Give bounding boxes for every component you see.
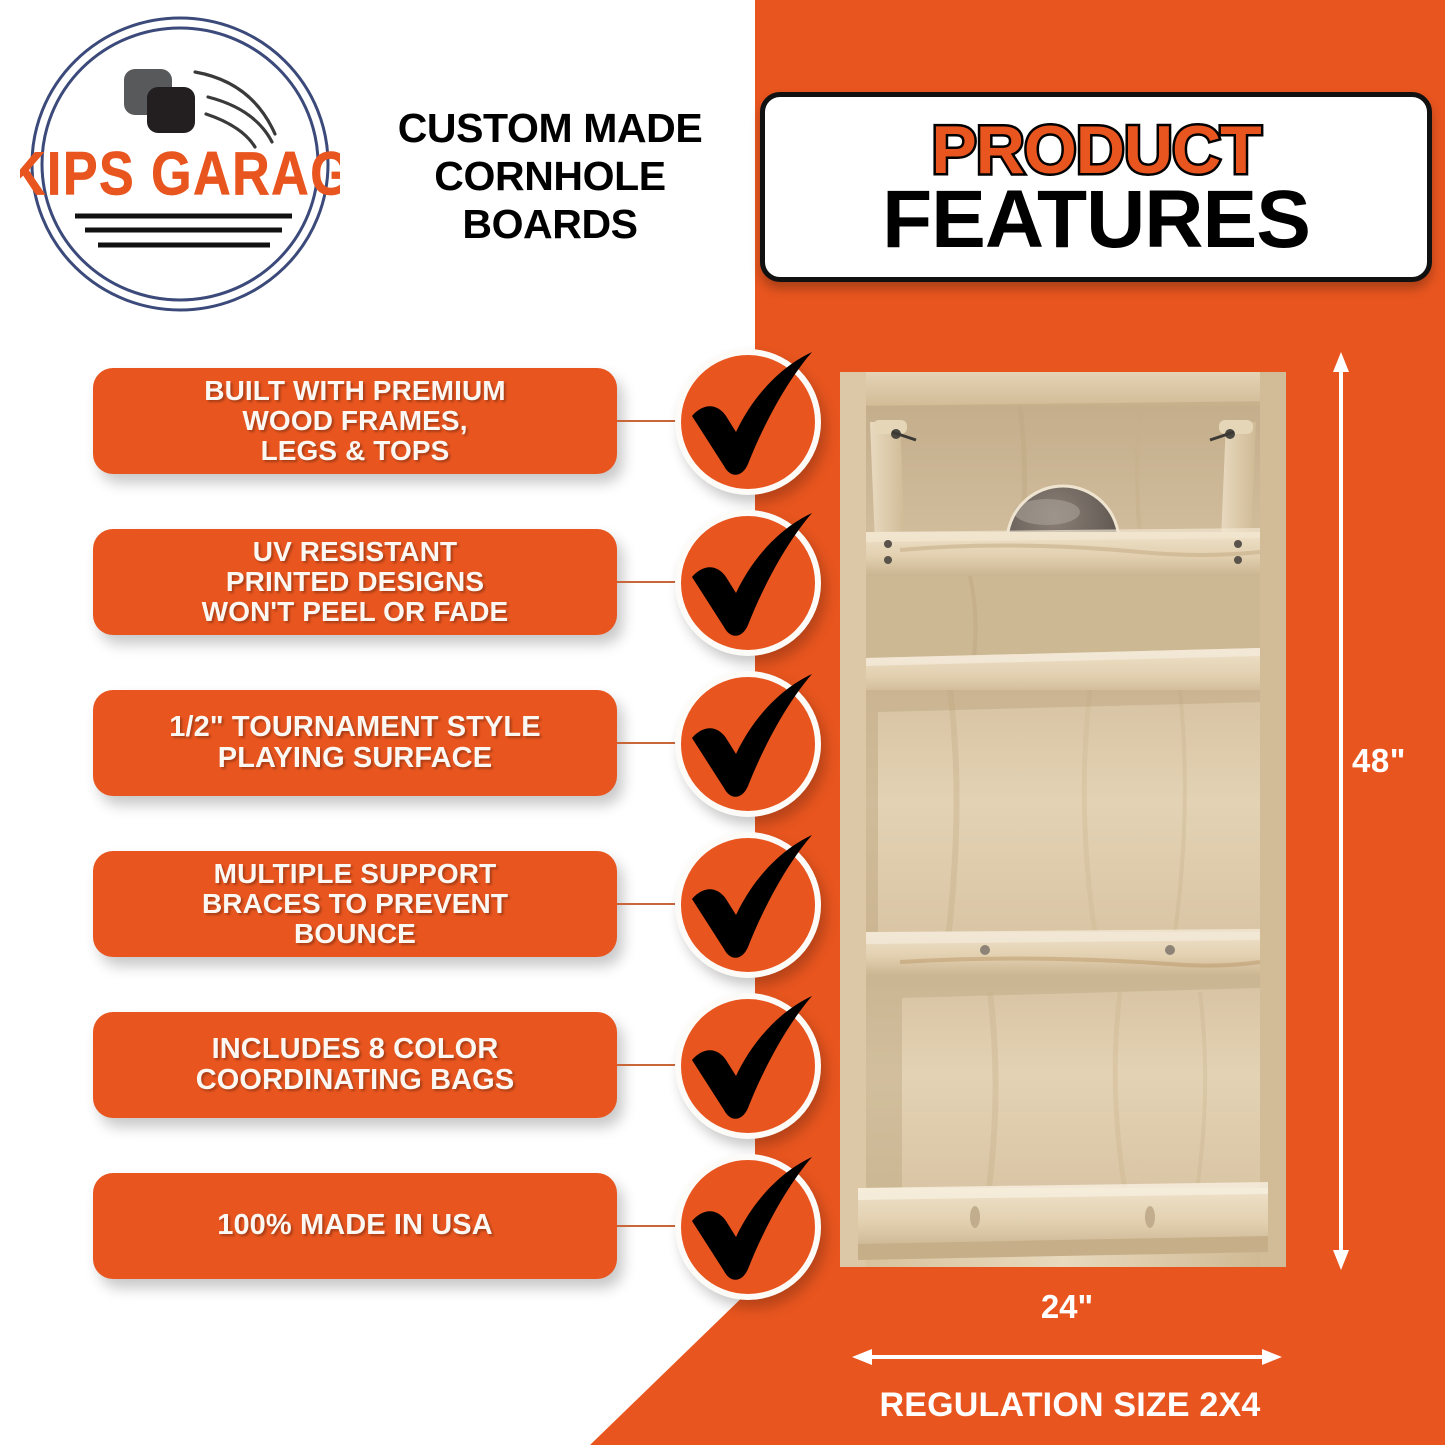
- brace-screw-tr: [1234, 540, 1242, 548]
- feature-row: 1/2" TOURNAMENT STYLE PLAYING SURFACE: [0, 690, 830, 840]
- feature-connector-line: [617, 903, 683, 905]
- board-right-rail: [1260, 372, 1286, 1267]
- feature-check-circle: [675, 510, 821, 656]
- feature-label: 1/2" TOURNAMENT STYLE PLAYING SURFACE: [169, 712, 540, 775]
- infographic-canvas: SKIPS GARAGE CUSTOM MADE CORNHOLE BOARDS…: [0, 0, 1445, 1445]
- product-features-banner: PRODUCT FEATURES: [760, 92, 1432, 282]
- feature-connector-line: [617, 581, 683, 583]
- logo-motion-arc-1: [195, 72, 275, 134]
- feature-label: INCLUDES 8 COLOR COORDINATING BAGS: [196, 1034, 515, 1097]
- feature-label: BUILT WITH PREMIUM WOOD FRAMES, LEGS & T…: [204, 376, 505, 467]
- brace-screw-bl: [884, 556, 892, 564]
- board-left-rail: [840, 372, 866, 1267]
- brace-screw-br: [1234, 556, 1242, 564]
- feature-check-circle: [675, 1154, 821, 1300]
- feature-connector-line: [617, 1064, 683, 1066]
- feature-check-circle: [675, 832, 821, 978]
- feature-row: INCLUDES 8 COLOR COORDINATING BAGS: [0, 1012, 830, 1162]
- feature-connector-line: [617, 742, 683, 744]
- board-top-rail: [840, 372, 1286, 406]
- headline-line-2: CORNHOLE: [350, 153, 750, 201]
- feature-connector-line: [617, 1225, 683, 1227]
- width-dimension-label: 24": [852, 1288, 1282, 1326]
- feature-pill[interactable]: 100% MADE IN USA: [93, 1173, 617, 1279]
- feature-pill[interactable]: BUILT WITH PREMIUM WOOD FRAMES, LEGS & T…: [93, 368, 617, 474]
- feature-pill[interactable]: INCLUDES 8 COLOR COORDINATING BAGS: [93, 1012, 617, 1118]
- feature-check-circle: [675, 349, 821, 495]
- feature-row: MULTIPLE SUPPORT BRACES TO PREVENT BOUNC…: [0, 851, 830, 1001]
- width-dimension-arrow: [852, 1348, 1282, 1366]
- headline-line-1: CUSTOM MADE: [350, 105, 750, 153]
- brace-screw-m2: [1165, 945, 1175, 955]
- feature-row: UV RESISTANT PRINTED DESIGNS WON'T PEEL …: [0, 529, 830, 679]
- height-dimension-arrow: [1331, 352, 1351, 1270]
- logo-wordmark: SKIPS GARAGE: [20, 141, 340, 209]
- skips-garage-logo: SKIPS GARAGE: [20, 14, 340, 314]
- feature-label: MULTIPLE SUPPORT BRACES TO PREVENT BOUNC…: [202, 859, 508, 950]
- height-dimension-label: 48": [1352, 742, 1406, 780]
- bottom-screw-2: [1145, 1206, 1155, 1228]
- logo-square-dark: [147, 87, 195, 133]
- feature-pill[interactable]: 1/2" TOURNAMENT STYLE PLAYING SURFACE: [93, 690, 617, 796]
- brace-screw-m1: [980, 945, 990, 955]
- feature-label: 100% MADE IN USA: [217, 1210, 493, 1241]
- banner-word-features: FEATURES: [882, 181, 1310, 260]
- feature-pill[interactable]: UV RESISTANT PRINTED DESIGNS WON'T PEEL …: [93, 529, 617, 635]
- feature-label: UV RESISTANT PRINTED DESIGNS WON'T PEEL …: [202, 537, 509, 628]
- headline-line-3: BOARDS: [350, 201, 750, 249]
- feature-pill[interactable]: MULTIPLE SUPPORT BRACES TO PREVENT BOUNC…: [93, 851, 617, 957]
- feature-row: 100% MADE IN USA: [0, 1173, 830, 1323]
- feature-check-circle: [675, 993, 821, 1139]
- board-panel-mid: [866, 690, 1260, 940]
- regulation-size-note: REGULATION SIZE 2X4: [820, 1386, 1320, 1425]
- bottom-screw-1: [970, 1206, 980, 1228]
- brace-screw-tl: [884, 540, 892, 548]
- page-title: CUSTOM MADE CORNHOLE BOARDS: [350, 105, 750, 249]
- feature-check-circle: [675, 671, 821, 817]
- feature-connector-line: [617, 420, 683, 422]
- cornhole-board-photo: [840, 372, 1286, 1267]
- feature-row: BUILT WITH PREMIUM WOOD FRAMES, LEGS & T…: [0, 368, 830, 518]
